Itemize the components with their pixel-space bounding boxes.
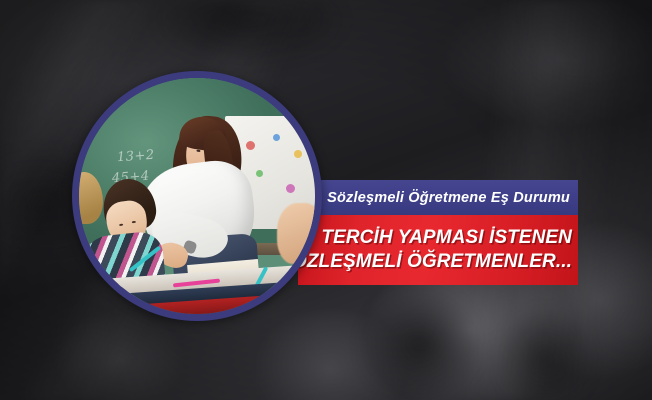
circular-photo-medallion: 13+2 45+4 44+3 7+5 9+3 3+6 [72, 71, 322, 321]
poster-dot [273, 134, 280, 141]
child-right [277, 203, 315, 264]
news-thumbnail-banner: 13+2 45+4 44+3 7+5 9+3 3+6 [0, 0, 652, 400]
poster-dot [286, 184, 295, 193]
headline-banner: TERCİH YAPMASI İSTENEN SÖZLEŞMELİ ÖĞRETM… [298, 215, 578, 285]
boy-eye [119, 223, 123, 226]
chalk-text: 13+2 [116, 147, 155, 165]
headline-line-1: TERCİH YAPMASI İSTENEN [321, 226, 572, 250]
subtitle-banner: Sözleşmeli Öğretmene Eş Durumu [305, 180, 578, 215]
poster-dot [256, 170, 263, 177]
subtitle-text: Sözleşmeli Öğretmene Eş Durumu [327, 190, 578, 206]
poster-dot [246, 141, 255, 150]
medallion-photo-clip: 13+2 45+4 44+3 7+5 9+3 3+6 [79, 78, 315, 314]
headline-line-2: SÖZLEŞMELİ ÖĞRETMENLER... [279, 250, 572, 274]
boy-eye [132, 220, 136, 223]
poster-dot [294, 150, 302, 158]
classroom-photo: 13+2 45+4 44+3 7+5 9+3 3+6 [79, 78, 315, 314]
